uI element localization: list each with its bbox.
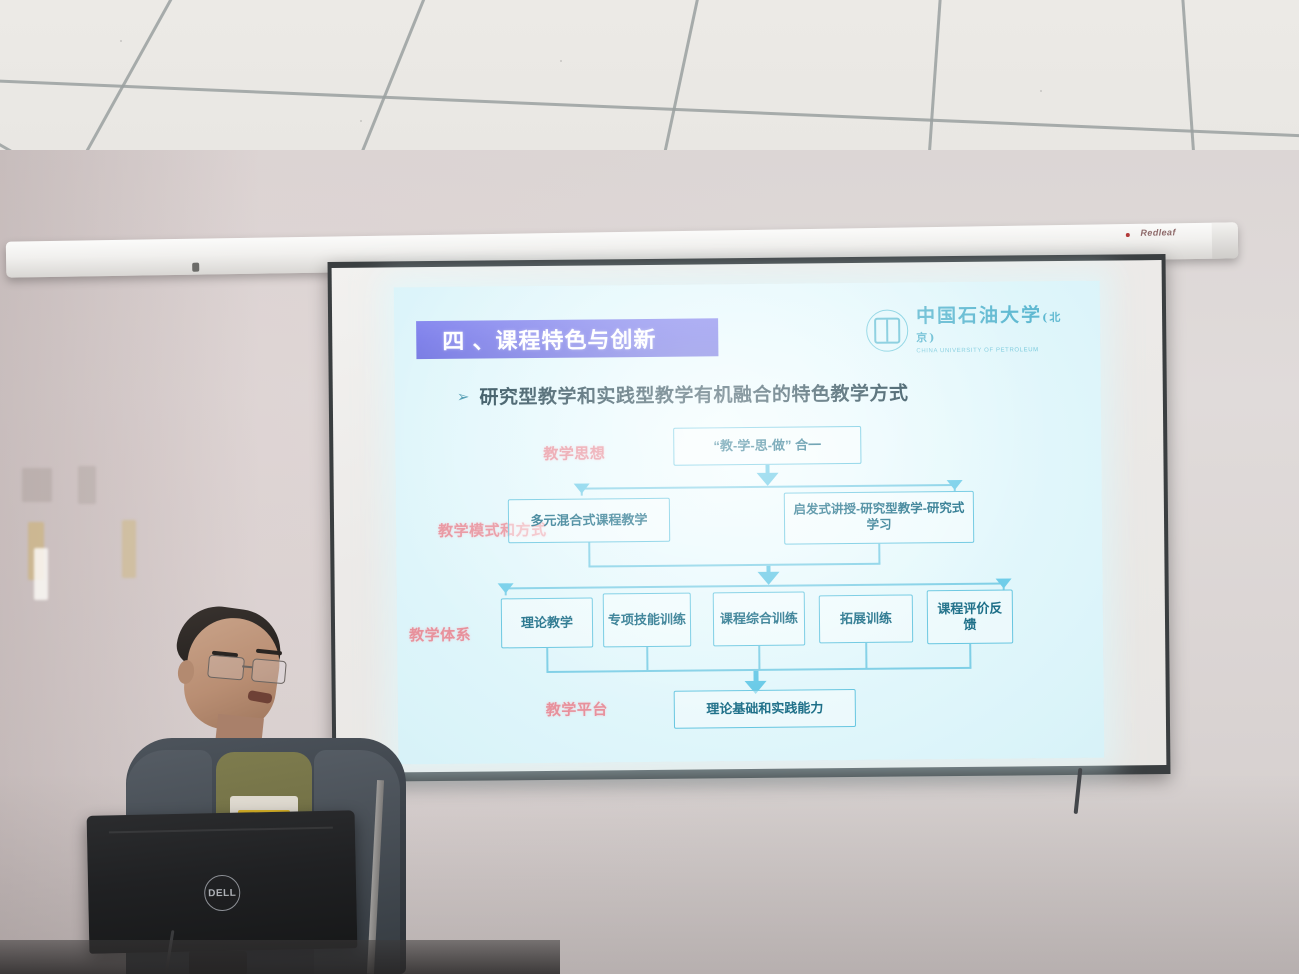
connector bbox=[969, 644, 971, 668]
connector bbox=[546, 648, 548, 672]
node-theory-and-practice: 理论基础和实践能力 bbox=[674, 689, 856, 729]
teaching-system-diagram: 教学思想 “教-学-思-做” 合一 教学模式和方式 多元混合式课程教学 启发式讲… bbox=[394, 281, 1105, 765]
node-heuristic-research-learning: 启发式讲授-研究型教学-研究式学习 bbox=[784, 491, 974, 545]
arrow-down-icon bbox=[574, 484, 590, 494]
brand-dot-icon bbox=[1126, 233, 1130, 237]
desk-edge bbox=[0, 940, 560, 974]
connector bbox=[865, 643, 867, 669]
connector bbox=[646, 647, 648, 671]
glasses-lens-left bbox=[207, 654, 245, 680]
connector bbox=[588, 543, 590, 567]
node-comprehensive-training: 课程综合训练 bbox=[713, 591, 806, 646]
connector-bus bbox=[505, 583, 1005, 590]
connector-bus bbox=[588, 563, 880, 568]
housing-screw bbox=[192, 263, 199, 272]
dell-logo-icon: DELL bbox=[204, 875, 241, 912]
node-skill-training: 专项技能训练 bbox=[603, 593, 692, 648]
row-label-teaching-platform: 教学平台 bbox=[546, 698, 608, 720]
classroom-photo-scene: Redleaf 四 、课程特色与创新 中国石油大学(北京) CHINA UNIV… bbox=[0, 0, 1299, 974]
screen-surface: 四 、课程特色与创新 中国石油大学(北京) CHINA UNIVERSITY O… bbox=[332, 260, 1167, 773]
monitor-seam bbox=[109, 827, 333, 834]
arrow-down-icon bbox=[757, 473, 779, 486]
dell-wordmark: DELL bbox=[208, 887, 236, 899]
wall-tape-mark bbox=[22, 468, 52, 502]
arrow-down-icon bbox=[996, 578, 1012, 588]
connector bbox=[758, 646, 760, 670]
wall-tape-mark bbox=[34, 548, 48, 600]
projected-slide: 四 、课程特色与创新 中国石油大学(北京) CHINA UNIVERSITY O… bbox=[394, 281, 1105, 765]
arrow-down-icon bbox=[498, 583, 514, 593]
node-theory-teaching: 理论教学 bbox=[501, 598, 593, 649]
dell-monitor: DELL bbox=[87, 810, 358, 954]
glasses-lens-right bbox=[251, 658, 287, 684]
projection-screen: 四 、课程特色与创新 中国石油大学(北京) CHINA UNIVERSITY O… bbox=[328, 254, 1171, 782]
arrow-down-icon bbox=[947, 480, 963, 490]
connector bbox=[878, 544, 880, 564]
wall-tape-mark bbox=[122, 520, 136, 578]
housing-brand-label: Redleaf bbox=[1140, 227, 1175, 238]
node-blended-curriculum: 多元混合式课程教学 bbox=[508, 498, 670, 544]
arrow-down-icon bbox=[758, 572, 780, 585]
connector-bus bbox=[581, 484, 956, 490]
wall-tape-mark bbox=[78, 466, 96, 504]
housing-end-cap bbox=[1212, 222, 1239, 258]
node-teaching-philosophy: “教-学-思-做” 合一 bbox=[673, 426, 861, 466]
node-extension-training: 拓展训练 bbox=[819, 594, 913, 643]
node-course-evaluation: 课程评价反馈 bbox=[927, 589, 1014, 644]
row-label-teaching-philosophy: 教学思想 bbox=[543, 442, 605, 464]
